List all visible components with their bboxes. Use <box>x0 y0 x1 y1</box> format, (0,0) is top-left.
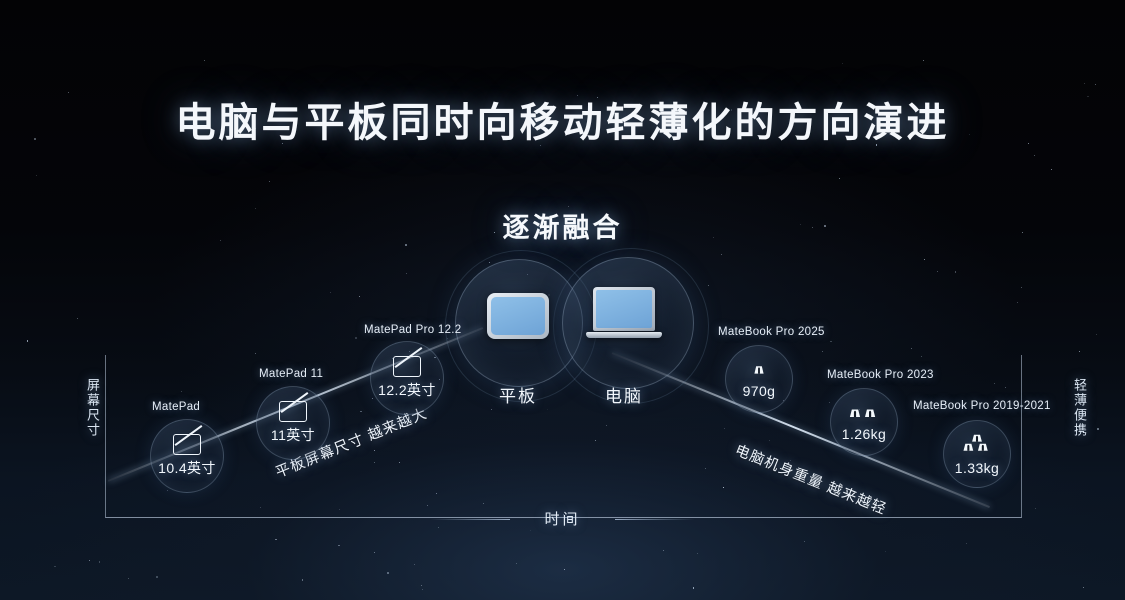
laptop-lid <box>593 287 655 331</box>
weight-ingot-2-icon <box>849 403 879 423</box>
node-laptop-0[interactable]: 970g <box>725 345 793 413</box>
merge-label-tablet: 平板 <box>458 382 578 407</box>
tablet-size-icon <box>279 401 307 422</box>
node-laptop-1[interactable]: 1.26kg <box>830 388 898 456</box>
node-value-tablet-2: 12.2英寸 <box>378 380 436 400</box>
node-name-tablet-0: MatePad <box>152 401 200 413</box>
axis-label-time: 时间 <box>0 508 1125 529</box>
node-tablet-2[interactable]: 12.2英寸 <box>370 341 444 415</box>
laptop-screen <box>596 290 652 328</box>
laptop-base <box>586 332 662 338</box>
node-name-tablet-1: MatePad 11 <box>259 368 323 380</box>
tablet-size-icon <box>173 434 201 455</box>
node-name-tablet-2: MatePad Pro 12.2 <box>364 324 462 336</box>
node-value-tablet-0: 10.4英寸 <box>158 458 216 478</box>
tablet-device-icon <box>487 293 549 339</box>
node-value-laptop-1: 1.26kg <box>842 426 886 442</box>
node-value-laptop-0: 970g <box>743 383 776 399</box>
node-tablet-0[interactable]: 10.4英寸 <box>150 419 224 493</box>
weight-ingot-1-icon <box>749 360 769 380</box>
node-name-laptop-2: MateBook Pro 2019-2021 <box>913 400 1051 412</box>
axis-label-right: 轻薄便携 <box>1065 378 1087 438</box>
axis-label-left: 屏幕尺寸 <box>78 378 100 438</box>
node-laptop-2[interactable]: 1.33kg <box>943 420 1011 488</box>
node-tablet-1[interactable]: 11英寸 <box>256 386 330 460</box>
laptop-device-icon <box>586 287 662 345</box>
weight-ingot-3-icon <box>962 433 992 457</box>
slide-canvas: 电脑与平板同时向移动轻薄化的方向演进 屏幕尺寸 轻薄便携 时间 平板屏幕尺寸 越… <box>0 0 1125 600</box>
node-name-laptop-0: MateBook Pro 2025 <box>718 326 825 338</box>
merge-heading: 逐渐融合 <box>0 206 1125 245</box>
node-name-laptop-1: MateBook Pro 2023 <box>827 369 934 381</box>
node-value-tablet-1: 11英寸 <box>271 425 315 445</box>
tablet-screen <box>491 297 545 335</box>
merge-label-laptop: 电脑 <box>564 382 684 407</box>
tablet-size-icon <box>393 356 421 377</box>
page-title: 电脑与平板同时向移动轻薄化的方向演进 <box>0 90 1125 148</box>
node-value-laptop-2: 1.33kg <box>955 460 999 476</box>
